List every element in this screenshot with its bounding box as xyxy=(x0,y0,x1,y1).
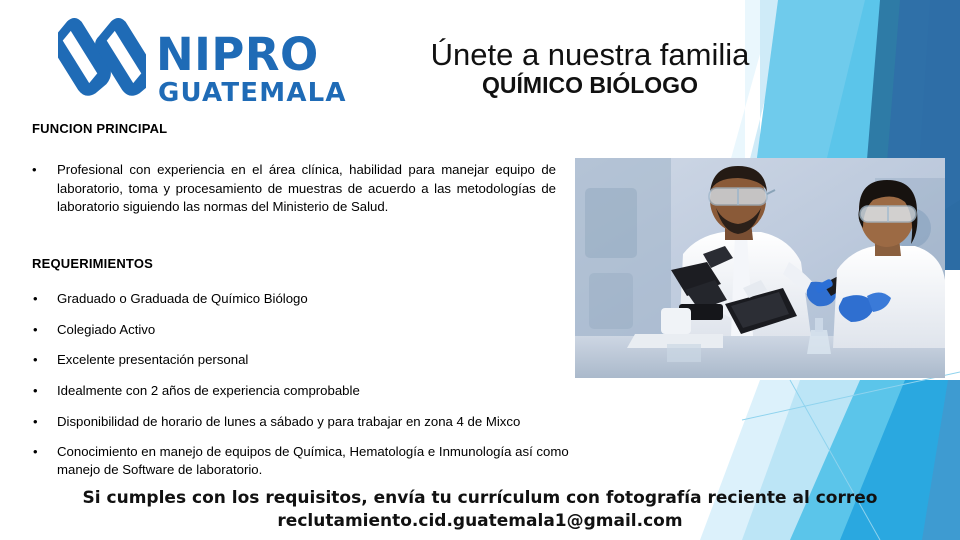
page-title: Únete a nuestra familia xyxy=(330,38,850,71)
requirements-list: • Graduado o Graduada de Químico Biólogo… xyxy=(32,290,592,492)
list-item: • Colegiado Activo xyxy=(32,321,592,339)
list-item: • Disponibilidad de horario de lunes a s… xyxy=(32,413,592,431)
bullet-icon: • xyxy=(33,413,38,430)
list-item-label: Colegiado Activo xyxy=(57,322,155,337)
list-item: • Graduado o Graduada de Químico Biólogo xyxy=(32,290,592,308)
bullet-icon: • xyxy=(33,443,38,460)
bullet-icon: • xyxy=(33,351,38,368)
safety-goggles-right xyxy=(860,206,916,222)
list-item-label: Graduado o Graduada de Químico Biólogo xyxy=(57,291,308,306)
bullet-icon: • xyxy=(32,161,37,179)
slide-title-group: Únete a nuestra familia QUÍMICO BIÓLOGO xyxy=(330,38,850,99)
bullet-icon: • xyxy=(33,321,38,338)
safety-goggles-left xyxy=(709,188,775,205)
list-item-label: Disponibilidad de horario de lunes a sáb… xyxy=(57,414,520,429)
lab-scientists-illustration xyxy=(575,158,945,378)
nipro-mark-icon xyxy=(58,18,146,96)
section-heading-requerimientos: REQUERIMIENTOS xyxy=(32,256,153,271)
page-subtitle: QUÍMICO BIÓLOGO xyxy=(330,73,850,99)
funcion-bullet-item: • Profesional con experiencia en el área… xyxy=(32,161,556,217)
logo-subword: GUATEMALA xyxy=(158,80,347,106)
footer-email[interactable]: reclutamiento.cid.guatemala1@gmail.com xyxy=(60,510,900,533)
bullet-icon: • xyxy=(33,290,38,307)
logo-wordmark: NIPRO xyxy=(156,32,319,77)
section-heading-funcion: FUNCION PRINCIPAL xyxy=(32,121,167,136)
deco-shape-bottom-midblue xyxy=(922,380,960,540)
nipro-logo: NIPRO GUATEMALA xyxy=(58,14,348,112)
footer-cta: Si cumples con los requisitos, envía tu … xyxy=(60,487,900,533)
list-item-label: Idealmente con 2 años de experiencia com… xyxy=(57,383,360,398)
lab-scientists-photo xyxy=(575,158,945,378)
slide-canvas: NIPRO GUATEMALA Únete a nuestra familia … xyxy=(0,0,960,540)
funcion-bullet-text: Profesional con experiencia en el área c… xyxy=(57,161,556,217)
list-item-label: Conocimiento en manejo de equipos de Quí… xyxy=(57,444,569,477)
list-item-label: Excelente presentación personal xyxy=(57,352,248,367)
list-item: • Excelente presentación personal xyxy=(32,351,592,369)
bullet-icon: • xyxy=(33,382,38,399)
list-item: • Conocimiento en manejo de equipos de Q… xyxy=(32,443,592,478)
footer-instruction: Si cumples con los requisitos, envía tu … xyxy=(60,487,900,510)
deco-hairline-1 xyxy=(742,372,960,420)
list-item: • Idealmente con 2 años de experiencia c… xyxy=(32,382,592,400)
